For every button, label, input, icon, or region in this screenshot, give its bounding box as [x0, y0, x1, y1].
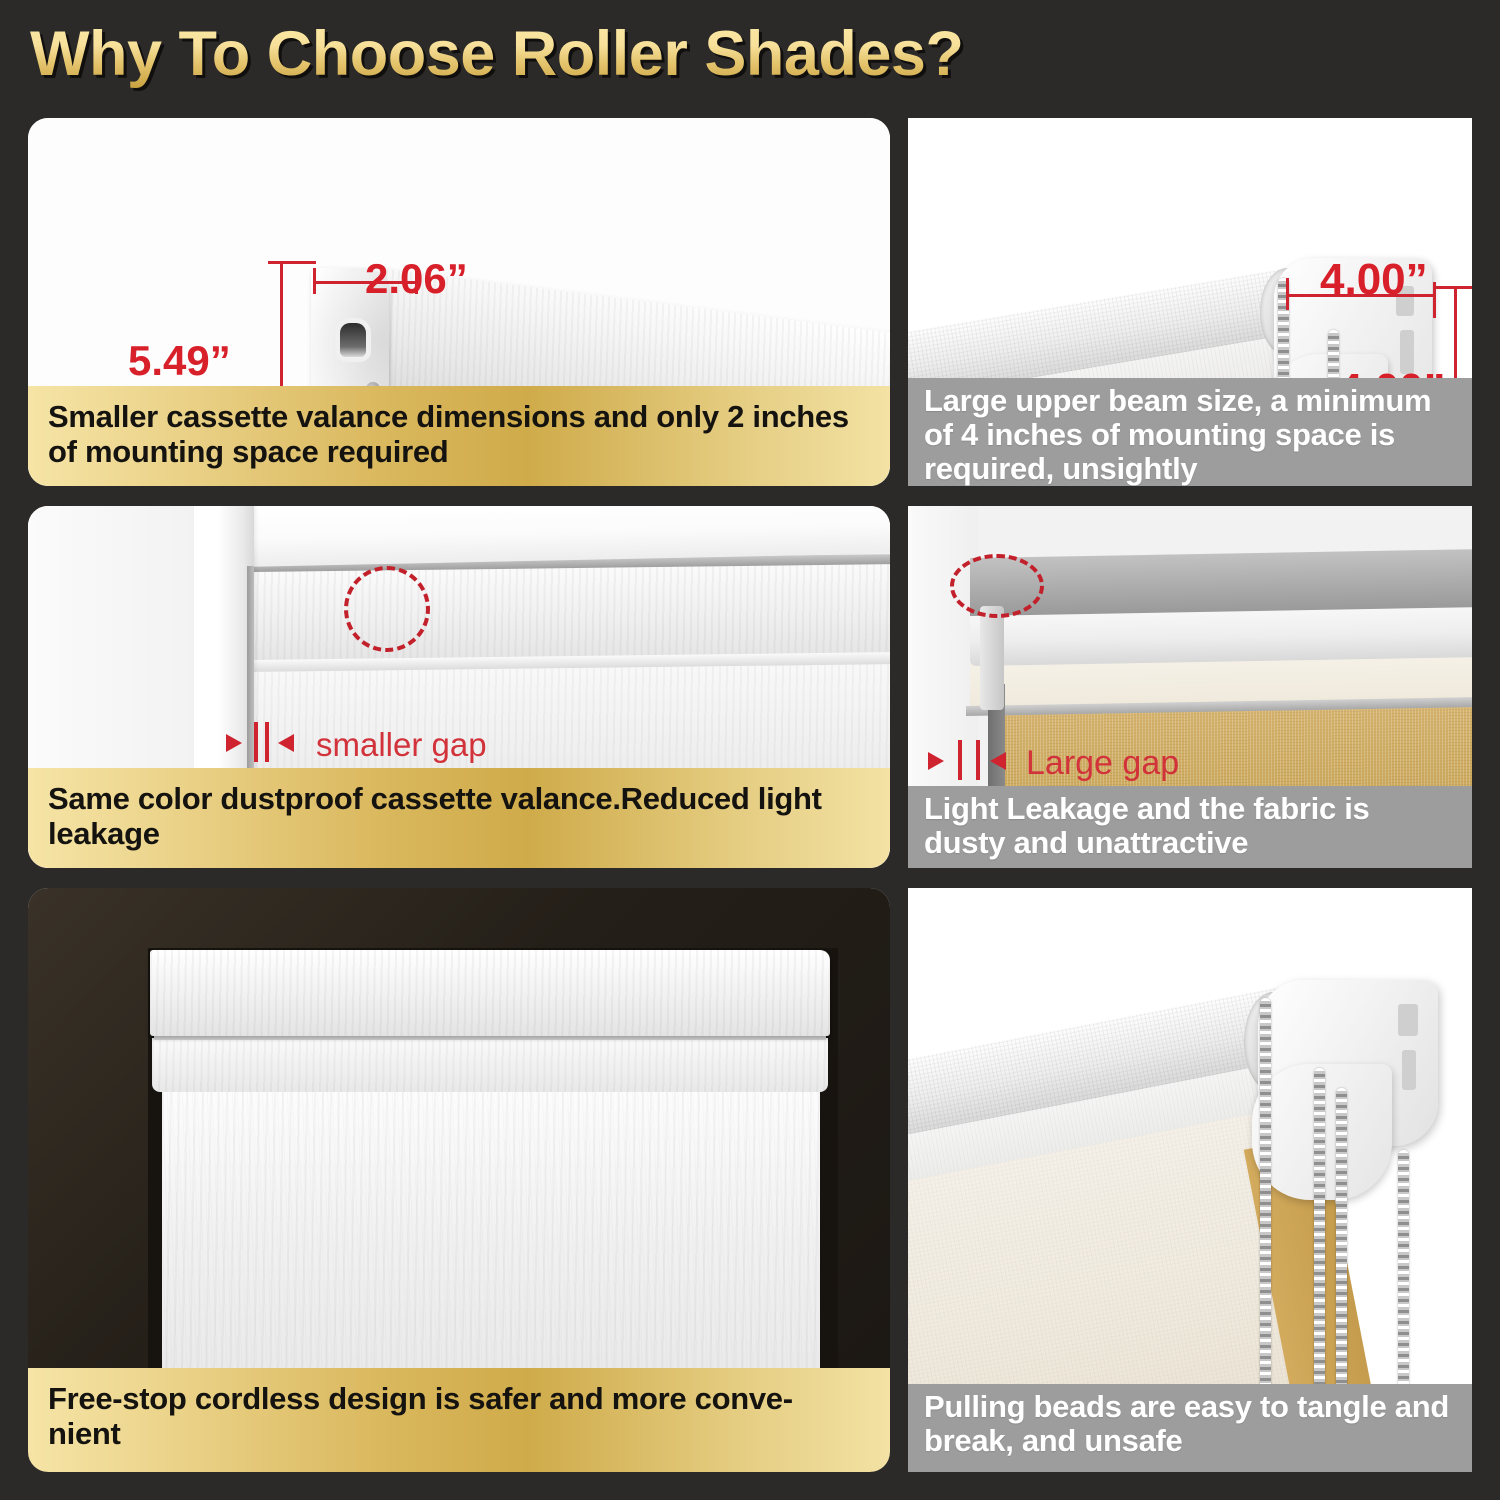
gap-marker — [976, 740, 980, 780]
panel-3-caption: Same color dustproof cassette valance.Re… — [28, 768, 890, 868]
callout-gap: Large gap — [1026, 746, 1179, 780]
gap-marker — [958, 740, 962, 780]
highlight-circle — [344, 566, 430, 652]
panel-5-caption: Free-stop cordless design is safer and m… — [28, 1368, 890, 1472]
panel-cordless-design[interactable]: Free-stop cordless design is safer and m… — [28, 888, 890, 1472]
gap-arrow-right-icon — [928, 752, 944, 770]
panel-6-caption: Pulling beads are easy to tangle and bre… — [908, 1384, 1472, 1472]
gap-marker — [254, 722, 258, 762]
bead-chain — [1260, 998, 1271, 1438]
highlight-circle — [950, 554, 1044, 618]
panel-pulling-beads[interactable]: Pulling beads are easy to tangle and bre… — [908, 888, 1472, 1472]
panel-smaller-cassette[interactable]: 2.06” 5.49” Smaller cassette valance dim… — [28, 118, 890, 486]
panel-4-caption: Light Leakage and the fabric is dusty an… — [908, 786, 1472, 868]
panel-1-caption: Smaller cassette valance dimensions and … — [28, 386, 890, 486]
panel-2-caption: Large upper beam size, a minimum of 4 in… — [908, 378, 1472, 486]
page-title: Why To Choose Roller Shades? — [30, 18, 963, 90]
gap-arrow-left-icon — [990, 752, 1006, 770]
panel-1-caption-text: Smaller cassette valance dimensions and … — [48, 400, 870, 469]
panel-large-upper-beam[interactable]: 4.00” 4.00” Large upper beam size, a min… — [908, 118, 1472, 486]
callout-height-dimension: 5.49” — [128, 340, 231, 382]
panel-light-leakage[interactable]: Large gap Light Leakage and the fabric i… — [908, 506, 1472, 868]
gap-arrow-left-icon — [278, 734, 294, 752]
callout-width-dimension: 4.00” — [1320, 258, 1428, 302]
panel-2-caption-text: Large upper beam size, a minimum of 4 in… — [924, 384, 1456, 486]
panel-5-caption-text: Free-stop cordless design is safer and m… — [48, 1382, 793, 1451]
page-header: Why To Choose Roller Shades? Why To Choo… — [0, 0, 1500, 110]
panel-6-caption-text: Pulling beads are easy to tangle and bre… — [924, 1390, 1456, 1458]
bead-chain — [1314, 1068, 1325, 1438]
panel-3-caption-text: Same color dustproof cassette valance.Re… — [48, 782, 870, 851]
cassette-hole-icon — [340, 323, 366, 357]
callout-gap: smaller gap — [316, 728, 487, 761]
callout-depth-dimension: 2.06” — [365, 258, 468, 300]
panel-dustproof-cassette[interactable]: smaller gap Same color dustproof cassett… — [28, 506, 890, 868]
gap-arrow-right-icon — [226, 734, 242, 752]
panel-4-caption-text: Light Leakage and the fabric is dusty an… — [924, 792, 1456, 860]
gap-marker — [265, 722, 269, 762]
